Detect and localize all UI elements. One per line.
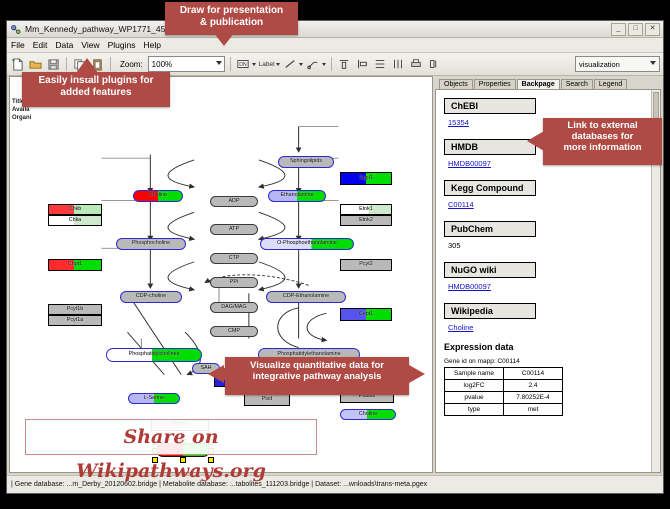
toolbar-divider [66,57,67,71]
toolbar-divider-2 [110,57,111,71]
chevron-down-icon-label[interactable] [276,63,280,66]
side-panel-tabs: Objects Properties Backpage Search Legen… [435,76,661,89]
callout-visualize: Visualize quantitative data for integrat… [225,357,409,395]
visualization-value: visualization [579,60,620,69]
db-link-kegg[interactable]: C00114 [448,200,652,209]
chevron-down-icon-datanode[interactable] [252,63,256,66]
db-link-nugo[interactable]: HMDB00097 [448,282,652,291]
callout-links-stem [540,134,547,148]
expression-table: Sample name C00114 log2FC 2.4 pvalue 7.8… [444,367,563,416]
table-row: pvalue 7.80252E-4 [445,392,563,404]
line-icon[interactable] [283,57,298,72]
node-adp[interactable]: ADP [210,196,258,207]
cell-label: log2FC [445,380,504,392]
callout-draw-line1: Draw for presentation [165,5,298,17]
svg-text:DN: DN [239,62,247,68]
node-phosphatidylcholines[interactable]: Phosphatidylcholines [106,348,202,362]
chevron-down-icon-line[interactable] [299,63,303,66]
cell-value: C00114 [504,368,563,380]
interaction-tool[interactable] [306,57,326,72]
pathvisio-icon [10,24,21,35]
menu-item-edit[interactable]: Edit [33,40,48,50]
table-row: Sample name C00114 [445,368,563,380]
callout-plugins-stem [83,70,91,78]
callout-draw: Draw for presentation & publication [165,2,298,35]
chevron-down-icon-visualization [650,61,656,65]
node-dagmag[interactable]: DAG/MAG [210,302,258,313]
node-cept1[interactable]: Cept1 [340,308,392,321]
db-header-wikipedia: Wikipedia [444,303,536,319]
zoom-label: Zoom: [120,60,143,69]
title-bar: Mm_Kennedy_pathway_WP1771_45176.gpml - P… [7,21,663,38]
chevron-down-icon [216,61,222,65]
window-buttons[interactable]: _ □ ✕ [611,23,660,36]
save-file-icon[interactable] [46,57,61,72]
menu-item-view[interactable]: View [81,40,99,50]
node-pcyt1b[interactable]: Pcyt1b [48,304,102,315]
db-header-chebi: ChEBI [444,98,536,114]
tab-legend[interactable]: Legend [594,79,627,89]
callout-visualize-stem-left [221,368,227,380]
node-ctp[interactable]: CTP [210,253,258,264]
menu-item-data[interactable]: Data [55,40,73,50]
callout-draw-arrow [213,32,235,46]
node-cdp-choline[interactable]: CDP-choline [120,291,182,303]
node-o-phosphoethanolamine[interactable]: O-Phosphoethanolamine [260,238,354,250]
node-pcyt1a[interactable]: Pcyt1a [48,315,102,326]
cell-value: met [504,404,563,416]
node-pcyt2[interactable]: Pcyt2 [340,259,392,271]
datanode-tool[interactable]: DN [236,57,256,72]
chevron-down-icon-interaction[interactable] [322,63,326,66]
node-cmp[interactable]: CMP [210,326,258,337]
node-ppi[interactable]: PPi [210,277,258,288]
db-header-nugo: NuGO wiki [444,262,536,278]
node-chpt1[interactable]: Chpt1 [48,259,102,271]
callout-visualize-arrow-right [409,365,425,383]
callout-plugins-line2: added features [22,87,170,99]
node-sphingolipids[interactable]: Sphingolipids [278,156,334,168]
visualization-select[interactable]: visualization [575,56,660,72]
zoom-value: 100% [152,60,172,69]
interaction-icon[interactable] [306,57,321,72]
table-row: log2FC 2.4 [445,380,563,392]
open-file-icon[interactable] [28,57,43,72]
table-row: type met [445,404,563,416]
toolbar-divider-4 [331,57,332,71]
node-sgpl1[interactable]: Sgpl1 [340,172,392,185]
label-text: Label [259,61,275,68]
menu-item-help[interactable]: Help [144,40,161,50]
distribute-vertical-icon[interactable] [373,57,388,72]
tab-backpage[interactable]: Backpage [517,79,560,89]
canvas-info-organism: Organi [12,115,31,121]
cell-value: 7.80252E-4 [504,392,563,404]
distribute-horizontal-icon[interactable] [391,57,406,72]
callout-plugins-line1: Easily install plugins for [22,75,170,87]
node-ethanolamine-bottom[interactable]: Choline [340,409,396,420]
node-pisd[interactable]: Pisd [244,394,290,406]
node-ethanolamine[interactable]: Ethanolamine [268,190,326,202]
node-choline-top[interactable]: Choline [133,190,183,202]
callout-draw-line2: & publication [165,17,298,29]
align-left-icon[interactable] [355,57,370,72]
zoom-select[interactable]: 100% [148,56,225,72]
new-file-icon[interactable] [10,57,25,72]
datanode-icon[interactable]: DN [236,57,251,72]
menu-bar: File Edit Data View Plugins Help [7,38,663,53]
cell-label: pvalue [445,392,504,404]
label-tool[interactable]: Label [259,61,280,68]
screenshot-root: Mm_Kennedy_pathway_WP1771_45176.gpml - P… [0,0,670,509]
node-etnk2[interactable]: Etnk2 [340,215,392,226]
node-chka[interactable]: Chka [48,215,102,226]
close-button[interactable]: ✕ [645,23,660,36]
line-tool[interactable] [283,57,303,72]
toolbar-divider-3 [230,57,231,71]
minimize-button[interactable]: _ [611,23,626,36]
callout-share: Share on Wikipathways.org [25,419,317,455]
db-header-pubchem: PubChem [444,221,536,237]
menu-item-plugins[interactable]: Plugins [108,40,136,50]
tab-search[interactable]: Search [561,79,593,89]
db-link-wikipedia[interactable]: Choline [448,323,652,332]
align-top-icon[interactable] [337,57,352,72]
canvas-info-availability: Availa [12,107,29,113]
callout-plugins: Easily install plugins for added feature… [22,72,170,107]
gene-id-line: Gene id on mapp: C00114 [444,358,652,365]
cell-value: 2.4 [504,380,563,392]
callout-links: Link to external databases for more info… [543,118,662,165]
layer-icon[interactable] [427,57,442,72]
tab-objects[interactable]: Objects [439,79,473,89]
pathway-canvas[interactable]: Title: Availa Organi [9,76,433,473]
expression-data-heading: Expression data [444,342,652,352]
db-header-kegg: Kegg Compound [444,180,536,196]
menu-item-file[interactable]: File [11,40,25,50]
node-phosphocholine[interactable]: Phosphocholine [116,238,186,250]
db-header-hmdb: HMDB [444,139,536,155]
node-chkb[interactable]: Chkb [48,204,102,215]
callout-visualize-line2: integrative pathway analysis [225,372,409,383]
node-atp[interactable]: ATP [210,224,258,235]
cell-label: type [445,404,504,416]
print-icon[interactable] [409,57,424,72]
db-value-pubchem: 305 [448,241,652,250]
node-l-serine-left[interactable]: L-Serine [128,393,180,404]
node-etnk1[interactable]: Etnk1 [340,204,392,215]
node-cdp-ethanolamine[interactable]: CDP-Ethanolamine [266,291,346,303]
cell-label: Sample name [445,368,504,380]
callout-links-line3: more information [543,143,662,154]
tab-properties[interactable]: Properties [474,79,516,89]
maximize-button[interactable]: □ [628,23,643,36]
